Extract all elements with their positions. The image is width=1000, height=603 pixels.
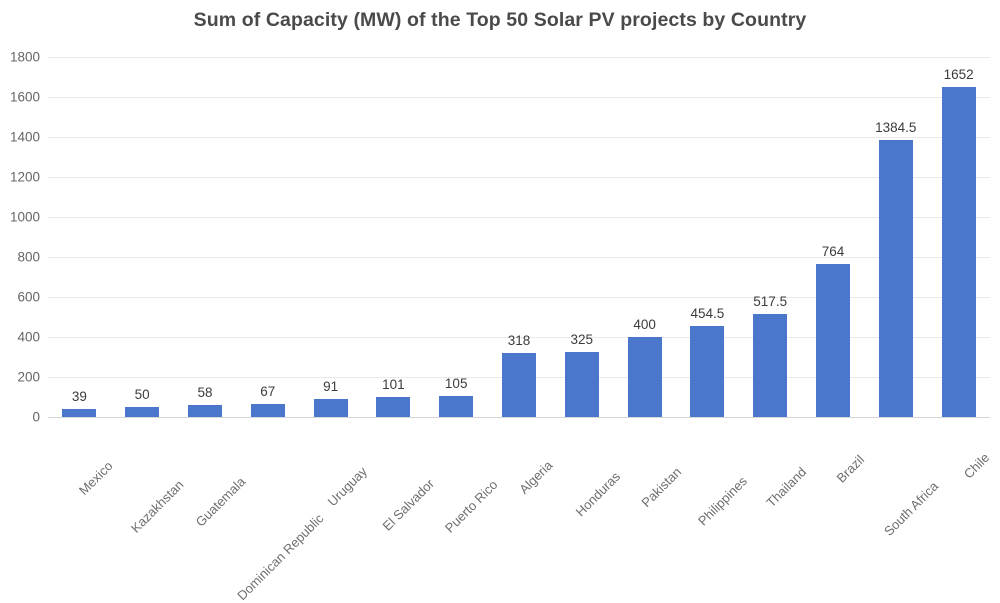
y-tick-label: 200 [0,370,40,385]
bar[interactable] [376,397,410,417]
bar-group[interactable]: 58 [188,57,222,417]
x-tick-label: Thailand [799,429,845,475]
bar-group[interactable]: 105 [439,57,473,417]
bar-value-label: 1652 [944,67,974,82]
bar-value-label: 50 [135,387,150,402]
bar-value-label: 1384.5 [875,120,916,135]
bar-value-label: 39 [72,389,87,404]
x-tick-label: El Salvador [427,429,485,487]
bar-value-label: 318 [508,333,531,348]
bar[interactable] [942,87,976,417]
bar-group[interactable]: 325 [565,57,599,417]
bar[interactable] [62,409,96,417]
x-tick-label-text: Guatemala [193,474,249,530]
x-tick-label: Brazil [857,429,891,463]
bar-group[interactable]: 101 [376,57,410,417]
bar-group[interactable]: 318 [502,57,536,417]
bar-value-label: 325 [571,332,594,347]
y-tick-label: 600 [0,290,40,305]
x-tick-label: Uruguay [359,429,404,474]
bar-group[interactable]: 39 [62,57,96,417]
x-tick-label-text: Uruguay [324,464,369,509]
bar-value-label: 101 [382,377,405,392]
x-tick-label-text: Philippines [695,473,750,528]
bar-group[interactable]: 454.5 [690,57,724,417]
y-tick-label: 1200 [0,170,40,185]
plot-area: 3950586791101105318325400454.5517.576413… [48,57,990,417]
bar-chart: Sum of Capacity (MW) of the Top 50 Solar… [0,0,1000,529]
x-tick-label-text: Thailand [764,464,810,510]
bar-group[interactable]: 1384.5 [879,57,913,417]
bar-group[interactable]: 50 [125,57,159,417]
chart-title: Sum of Capacity (MW) of the Top 50 Solar… [0,9,1000,32]
bar[interactable] [628,337,662,417]
bar-value-label: 105 [445,376,468,391]
y-tick-label: 1800 [0,50,40,65]
bar-group[interactable]: 400 [628,57,662,417]
bar-group[interactable]: 1652 [942,57,976,417]
x-tick-label-text: Brazil [834,452,868,486]
bar-group[interactable]: 517.5 [753,57,787,417]
bar[interactable] [188,405,222,417]
x-tick-label: Pakistan [673,429,719,475]
bar-group[interactable]: 764 [816,57,850,417]
bar-value-label: 517.5 [753,294,787,309]
x-tick-label-text: Mexico [76,458,116,498]
bar-value-label: 764 [822,244,845,259]
x-tick-label: Mexico [105,429,145,469]
bar[interactable] [439,396,473,417]
bar-value-label: 58 [197,385,212,400]
x-tick-label: Honduras [612,429,662,479]
bar[interactable] [502,353,536,417]
x-tick-label-text: Pakistan [638,464,684,510]
bar[interactable] [816,264,850,417]
bar[interactable] [690,326,724,417]
y-axis: 020040060080010001200140016001800 [0,57,40,417]
x-tick-label-text: Honduras [572,469,622,519]
bar[interactable] [314,399,348,417]
x-tick-label-text: Puerto Rico [442,477,501,536]
y-tick-label: 1400 [0,130,40,145]
gridline [48,417,990,418]
x-tick-label: Algeria [545,429,584,468]
bar-value-label: 91 [323,379,338,394]
bar-group[interactable]: 67 [251,57,285,417]
x-tick-label: Kazakhstan [176,429,235,488]
bar-value-label: 400 [633,317,656,332]
y-tick-label: 0 [0,410,40,425]
bar-value-label: 454.5 [690,306,724,321]
y-tick-label: 800 [0,250,40,265]
x-tick-label-text: Dominican Republic [234,511,326,603]
bar[interactable] [565,352,599,417]
bar-value-label: 67 [260,384,275,399]
bar[interactable] [753,314,787,418]
x-tick-label-text: Kazakhstan [128,477,187,536]
bar[interactable] [879,140,913,417]
bar-group[interactable]: 91 [314,57,348,417]
x-axis: MexicoKazakhstanGuatemalaDominican Repub… [48,419,990,529]
x-tick-label: Guatemala [238,429,294,485]
x-tick-label-text: South Africa [881,479,941,539]
x-tick-label-text: El Salvador [380,476,438,534]
bar[interactable] [251,404,285,417]
y-tick-label: 1600 [0,90,40,105]
y-tick-label: 1000 [0,210,40,225]
bar[interactable] [125,407,159,417]
y-tick-label: 400 [0,330,40,345]
